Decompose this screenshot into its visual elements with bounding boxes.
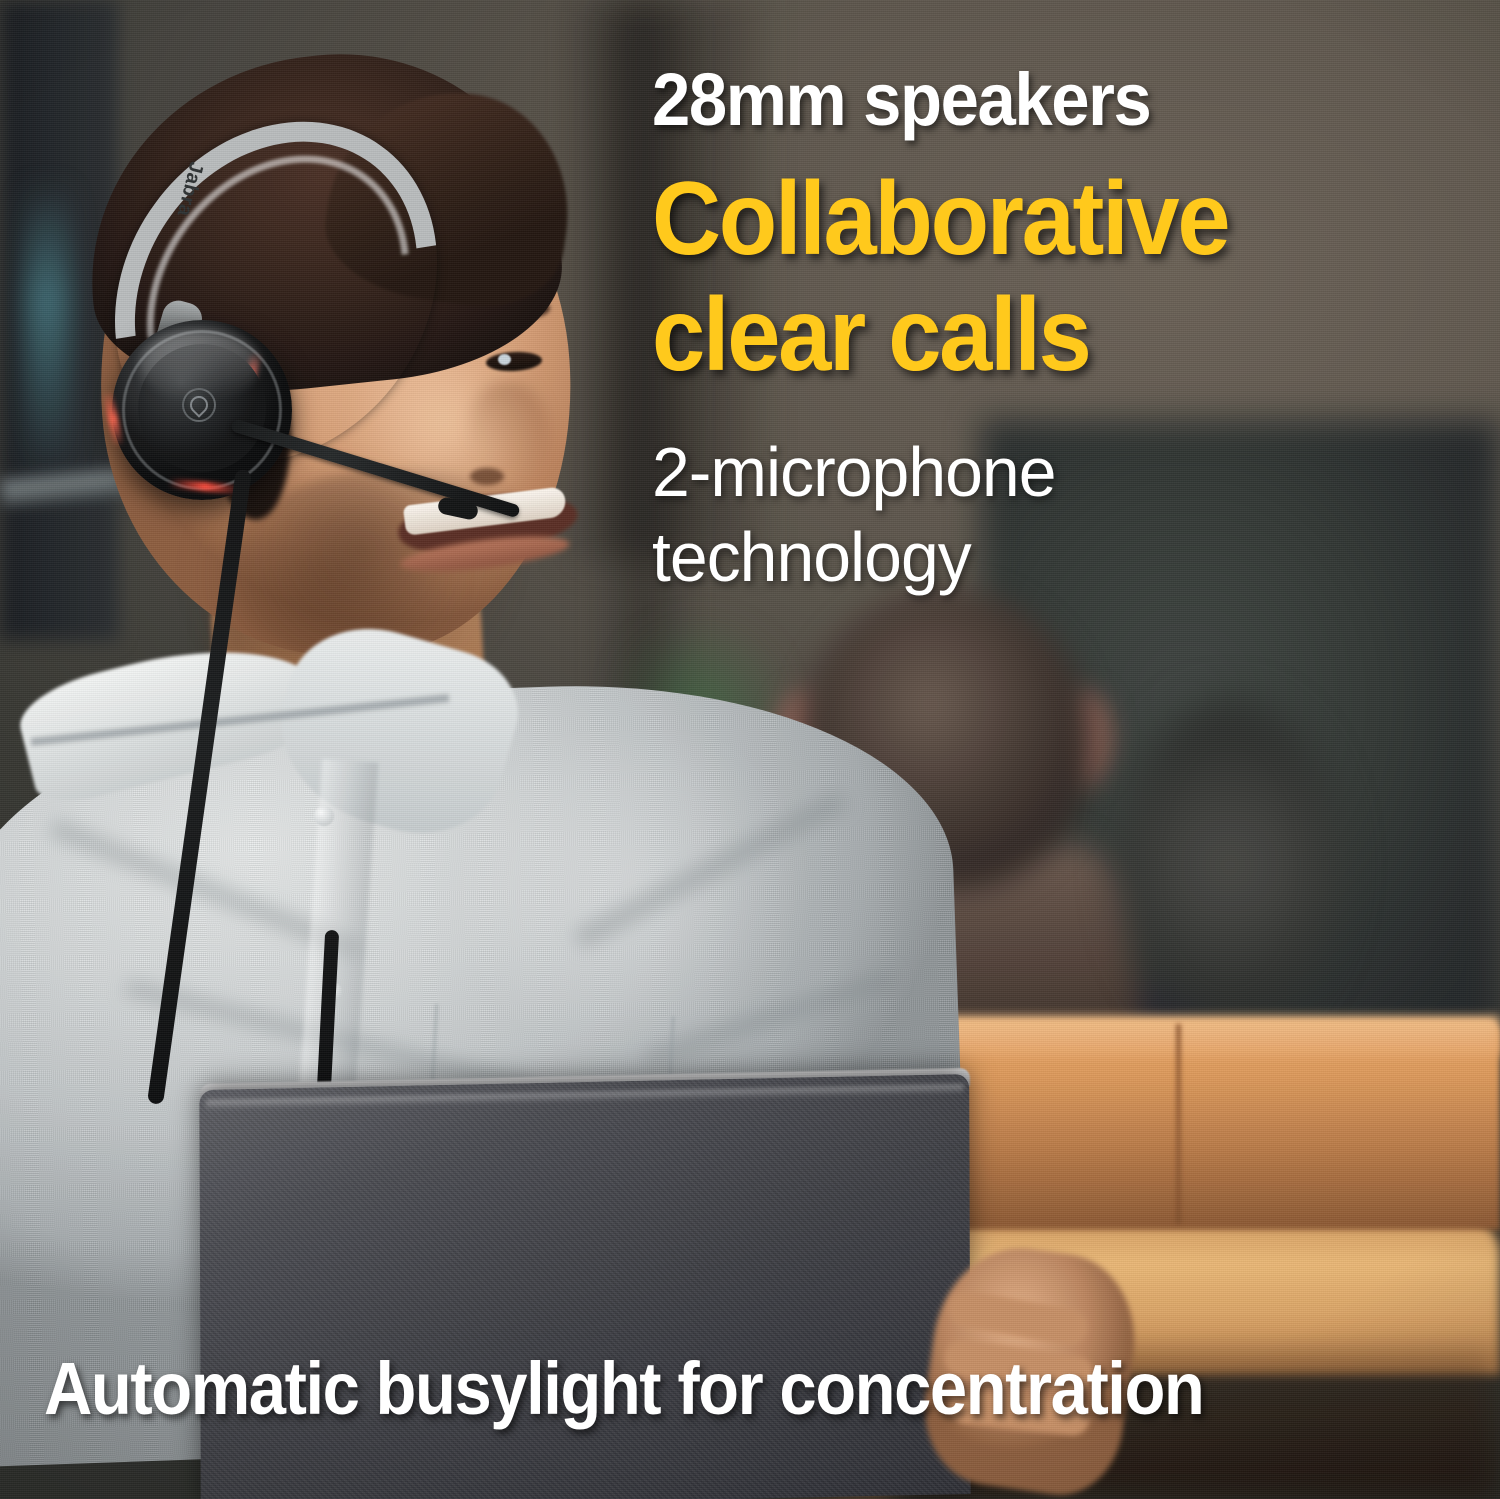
background-window-teal-glow <box>24 180 70 480</box>
shirt-button <box>314 806 334 826</box>
product-feature-image: Jabra 28mm speakers Collaborative clear … <box>0 0 1500 1499</box>
sofa-seam <box>1176 1024 1181 1224</box>
person-nostril <box>470 468 504 485</box>
laptop-lid-texture <box>199 1074 970 1499</box>
headset-earcup-highlight <box>140 330 260 400</box>
background-person-shadow <box>1120 700 1340 1030</box>
person-eye-right-catchlight <box>498 354 511 365</box>
